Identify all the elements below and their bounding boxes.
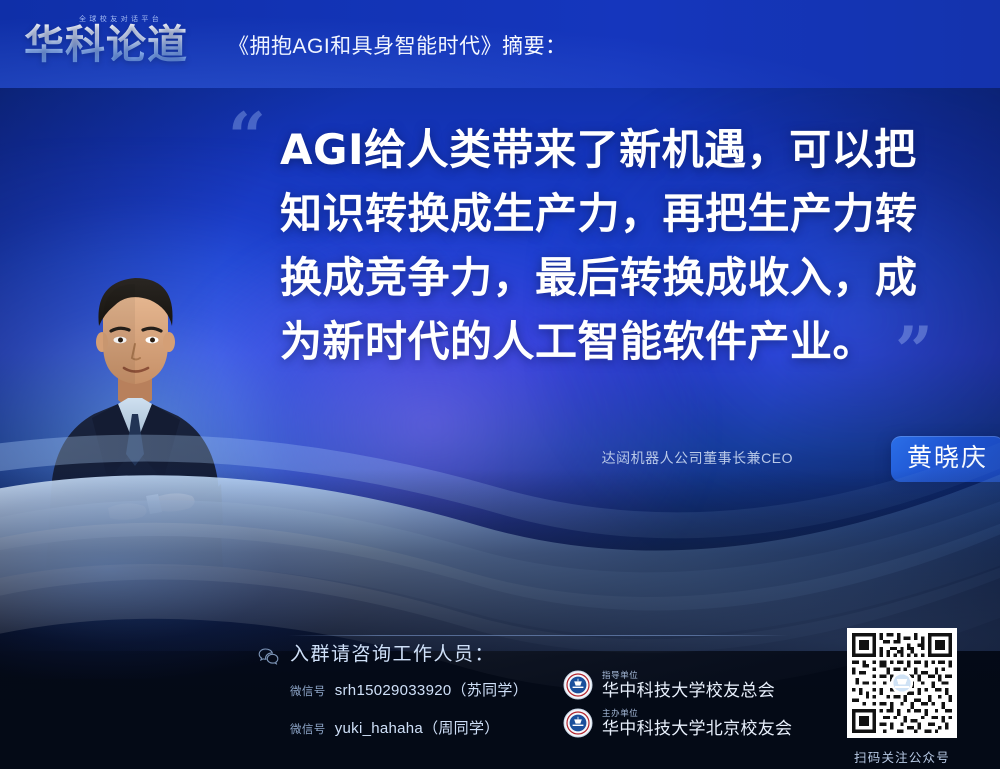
contact-row[interactable]: 微信号 srh15029033920（苏同学） [290,679,528,700]
logo-tagline: 全球校友对话平台 [79,14,162,24]
quote-open-mark: “ [228,104,266,170]
organization-name: 华中科技大学北京校友会 [602,720,792,737]
university-seal-icon [563,670,593,700]
organization-name: 华中科技大学校友总会 [602,682,775,699]
qr-caption: 扫码关注公众号 [840,747,964,766]
header-bar: 全球校友对话平台 华科论道 《拥抱AGI和具身智能时代》摘要： [0,0,1000,88]
footer-divider [288,635,788,636]
university-seal-icon [563,708,593,738]
footer-heading: 入群请咨询工作人员： [290,643,495,667]
quote-line: AGI给人类带来了新机遇，可以把 [280,118,940,182]
wechat-icon [258,648,280,666]
brand-logo: 全球校友对话平台 华科论道 [24,14,224,76]
contact-label: 微信号 [290,683,326,699]
quote-close-mark: ” [895,318,933,384]
organization-kind: 指导单位 [602,671,775,680]
contact-row[interactable]: 微信号 yuki_hahaha（周同学） [290,717,500,738]
quote-line: 知识转换成生产力，再把生产力转 [280,182,940,246]
contact-label: 微信号 [290,721,326,737]
poster-canvas: 全球校友对话平台 华科论道 《拥抱AGI和具身智能时代》摘要： “ AGI给人类… [0,0,1000,769]
organization-kind: 主办单位 [602,709,792,718]
page-title: 《拥抱AGI和具身智能时代》摘要： [228,34,567,60]
contact-value: srh15029033920（苏同学） [335,679,528,700]
organization-row: 主办单位 华中科技大学北京校友会 [563,708,792,738]
organization-row: 指导单位 华中科技大学校友总会 [563,670,775,700]
quote-line: 换成竞争力，最后转换成收入，成 [280,246,940,310]
qr-code-block[interactable]: 扫码关注公众号 [840,628,964,766]
logo-wordmark: 华科论道 [24,22,188,68]
contact-value: yuki_hahaha（周同学） [335,717,500,738]
qr-code-image[interactable] [847,628,957,738]
quote-block: AGI给人类带来了新机遇，可以把 知识转换成生产力，再把生产力转 换成竞争力，最… [280,118,940,374]
quote-line: 为新时代的人工智能软件产业。 [280,310,940,374]
